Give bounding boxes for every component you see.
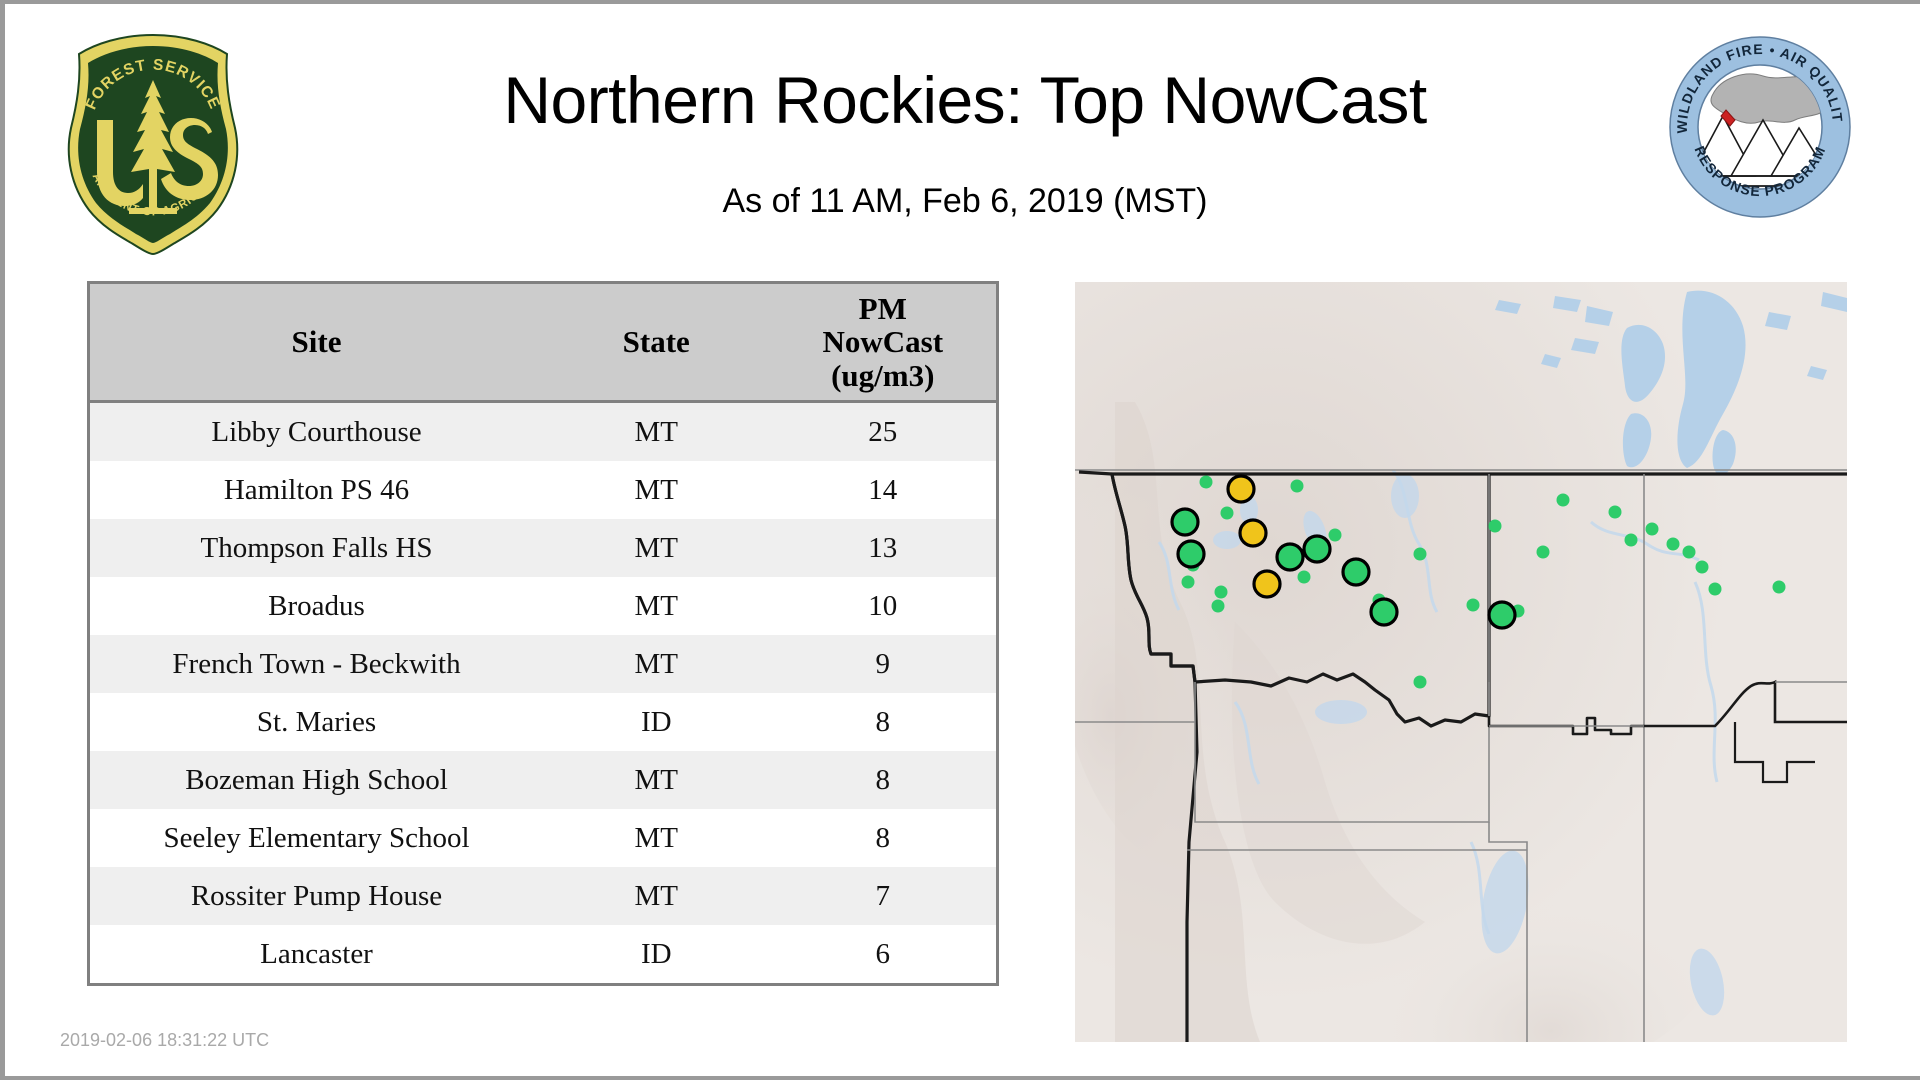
- map-marker-good[interactable]: [1304, 536, 1330, 562]
- site-cell: Bozeman High School: [90, 751, 543, 809]
- map-marker-moderate[interactable]: [1240, 520, 1266, 546]
- pm-nowcast-cell: 25: [770, 402, 997, 462]
- site-cell: Thompson Falls HS: [90, 519, 543, 577]
- pm-nowcast-cell: 10: [770, 577, 997, 635]
- pm-nowcast-cell: 8: [770, 751, 997, 809]
- generated-timestamp: 2019-02-06 18:31:22 UTC: [60, 1030, 269, 1051]
- map-marker-moderate[interactable]: [1254, 571, 1280, 597]
- wildland-fire-air-quality-response-program-logo: WILDLAND FIRE • AIR QUALITY RESPONSE PRO…: [1667, 34, 1853, 220]
- page-title: Northern Rockies: Top NowCast: [305, 62, 1625, 138]
- state-cell: ID: [543, 693, 770, 751]
- map-marker-small[interactable]: [1489, 520, 1502, 533]
- map-marker-good[interactable]: [1172, 509, 1198, 535]
- map-marker-good[interactable]: [1489, 602, 1515, 628]
- map-marker-small[interactable]: [1696, 561, 1709, 574]
- pm-nowcast-cell: 6: [770, 925, 997, 983]
- table-row[interactable]: Rossiter Pump HouseMT7: [90, 867, 996, 925]
- map-marker-good[interactable]: [1277, 544, 1303, 570]
- slide-canvas: FOREST SERVICE DEPARTMENT OF AGRICULTURE…: [0, 0, 1920, 1080]
- map-marker-moderate[interactable]: [1228, 476, 1254, 502]
- map-marker-small[interactable]: [1557, 494, 1570, 507]
- site-cell: Libby Courthouse: [90, 402, 543, 462]
- nowcast-table: Site State PM NowCast (ug/m3) Libby Cour…: [90, 284, 996, 983]
- column-header-pm-line3: (ug/m3): [774, 359, 993, 392]
- pm-nowcast-cell: 9: [770, 635, 997, 693]
- column-header-pm-nowcast[interactable]: PM NowCast (ug/m3): [770, 284, 997, 402]
- table-header-row: Site State PM NowCast (ug/m3): [90, 284, 996, 402]
- pm-nowcast-cell: 14: [770, 461, 997, 519]
- map-marker-small[interactable]: [1773, 581, 1786, 594]
- state-cell: MT: [543, 402, 770, 462]
- map-marker-small[interactable]: [1414, 548, 1427, 561]
- table-row[interactable]: Bozeman High SchoolMT8: [90, 751, 996, 809]
- map-marker-small[interactable]: [1646, 523, 1659, 536]
- column-header-pm-line1: PM: [774, 292, 993, 325]
- map-marker-small[interactable]: [1467, 599, 1480, 612]
- pm-nowcast-cell: 8: [770, 693, 997, 751]
- map-marker-small[interactable]: [1221, 507, 1234, 520]
- monitor-location-map[interactable]: [1075, 282, 1847, 1042]
- table-row[interactable]: Libby CourthouseMT25: [90, 402, 996, 462]
- map-marker-small[interactable]: [1537, 546, 1550, 559]
- map-marker-good[interactable]: [1178, 541, 1204, 567]
- map-marker-small[interactable]: [1414, 676, 1427, 689]
- map-marker-small[interactable]: [1609, 506, 1622, 519]
- state-cell: MT: [543, 461, 770, 519]
- column-header-state[interactable]: State: [543, 284, 770, 402]
- table-body: Libby CourthouseMT25Hamilton PS 46MT14Th…: [90, 402, 996, 984]
- table-row[interactable]: Thompson Falls HSMT13: [90, 519, 996, 577]
- map-marker-small[interactable]: [1625, 534, 1638, 547]
- map-marker-small[interactable]: [1667, 538, 1680, 551]
- state-cell: MT: [543, 519, 770, 577]
- site-cell: Rossiter Pump House: [90, 867, 543, 925]
- state-cell: MT: [543, 809, 770, 867]
- site-cell: Broadus: [90, 577, 543, 635]
- state-cell: MT: [543, 751, 770, 809]
- state-cell: ID: [543, 925, 770, 983]
- table-row[interactable]: French Town - BeckwithMT9: [90, 635, 996, 693]
- site-cell: Hamilton PS 46: [90, 461, 543, 519]
- table-row[interactable]: Hamilton PS 46MT14: [90, 461, 996, 519]
- site-cell: Lancaster: [90, 925, 543, 983]
- state-cell: MT: [543, 867, 770, 925]
- table-row[interactable]: LancasterID6: [90, 925, 996, 983]
- site-cell: French Town - Beckwith: [90, 635, 543, 693]
- nowcast-table-container: Site State PM NowCast (ug/m3) Libby Cour…: [87, 281, 999, 986]
- pm-nowcast-cell: 13: [770, 519, 997, 577]
- site-cell: St. Maries: [90, 693, 543, 751]
- map-marker-small[interactable]: [1200, 476, 1213, 489]
- map-marker-small[interactable]: [1683, 546, 1696, 559]
- table-row[interactable]: BroadusMT10: [90, 577, 996, 635]
- pm-nowcast-cell: 7: [770, 867, 997, 925]
- map-marker-good[interactable]: [1371, 599, 1397, 625]
- map-marker-small[interactable]: [1291, 480, 1304, 493]
- map-marker-small[interactable]: [1182, 576, 1195, 589]
- page-subtitle-timestamp: As of 11 AM, Feb 6, 2019 (MST): [305, 182, 1625, 221]
- table-head: Site State PM NowCast (ug/m3): [90, 284, 996, 402]
- site-cell: Seeley Elementary School: [90, 809, 543, 867]
- state-cell: MT: [543, 577, 770, 635]
- map-marker-small[interactable]: [1709, 583, 1722, 596]
- state-cell: MT: [543, 635, 770, 693]
- map-marker-small[interactable]: [1298, 571, 1311, 584]
- column-header-site[interactable]: Site: [90, 284, 543, 402]
- map-marker-small[interactable]: [1329, 529, 1342, 542]
- map-marker-small[interactable]: [1215, 586, 1228, 599]
- table-row[interactable]: St. MariesID8: [90, 693, 996, 751]
- map-marker-small[interactable]: [1212, 600, 1225, 613]
- table-row[interactable]: Seeley Elementary SchoolMT8: [90, 809, 996, 867]
- pm-nowcast-cell: 8: [770, 809, 997, 867]
- column-header-pm-line2: NowCast: [774, 325, 993, 358]
- map-marker-good[interactable]: [1343, 559, 1369, 585]
- usda-forest-service-shield-logo: FOREST SERVICE DEPARTMENT OF AGRICULTURE: [57, 32, 249, 257]
